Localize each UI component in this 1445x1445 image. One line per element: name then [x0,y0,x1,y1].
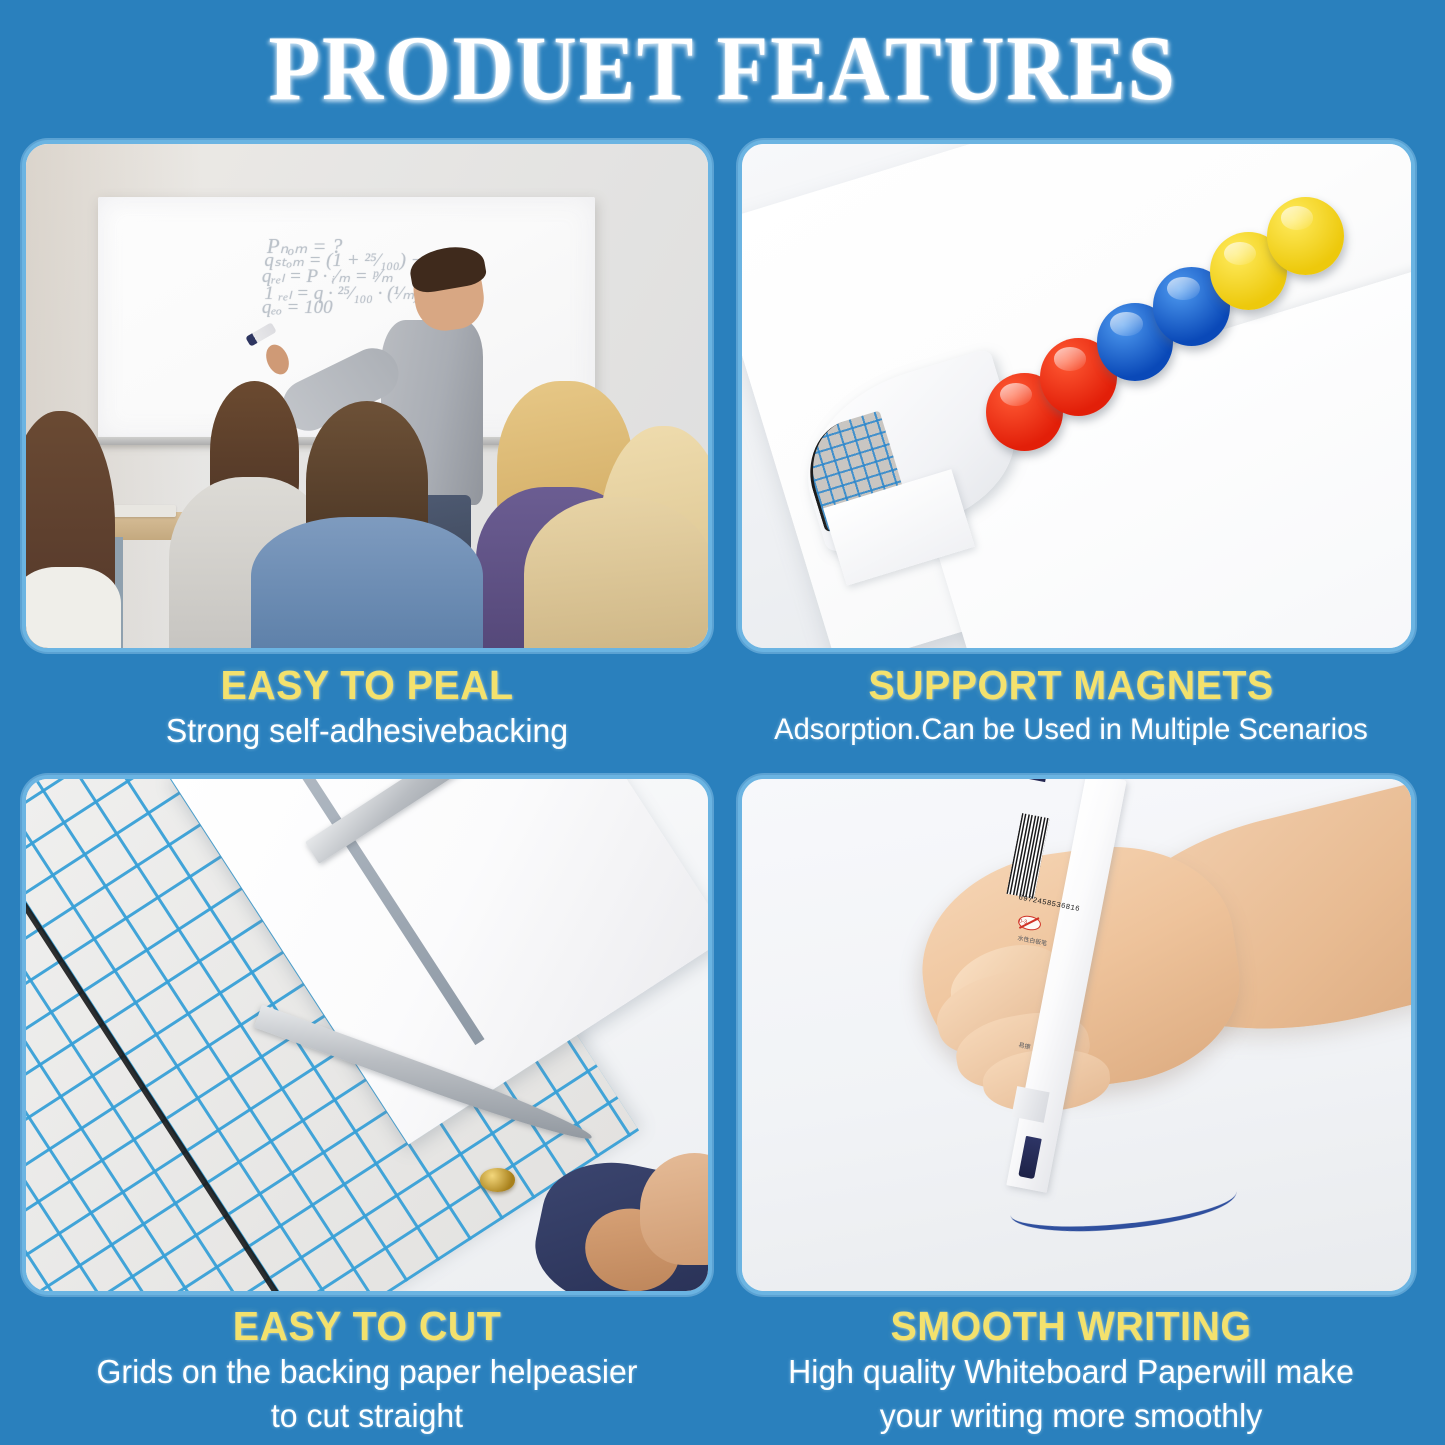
student-head [524,497,712,652]
caption-subtext: Strong self-adhesivebacking [32,712,701,751]
caption-subtext-line1: Grids on the backing paper helpeasier [32,1353,701,1392]
caption-easy-to-peal: EASY TO PEAL Strong self-adhesivebacking [22,664,712,751]
student-body [22,567,121,652]
caption-heading: SUPPORT MAGNETS [740,664,1402,707]
scissor-pivot-screw [480,1168,515,1192]
formula-line-5: qₑₒ = 100 [262,297,333,319]
student-body [251,517,483,652]
caption-easy-to-cut: EASY TO CUT Grids on the backing paper h… [22,1305,712,1436]
caption-smooth-writing: SMOOTH WRITING High quality Whiteboard P… [726,1305,1416,1436]
caption-subtext-line2: to cut straight [32,1397,701,1436]
photo-classroom: Pₙₒₘ = ? qₛₜₒₘ = (1 + ²⁵⁄₁₀₀) − (1 + i) … [22,140,712,652]
magnet-scene [742,144,1411,648]
feature-grid: Pₙₒₘ = ? qₛₜₒₘ = (1 + ²⁵⁄₁₀₀) − (1 + i) … [0,136,1445,1445]
feature-card-smooth-writing: 6972458536816 0-3 水性白板笔 易擦 [738,775,1415,1295]
page-title: PRODUET FEATURES [268,15,1176,121]
feature-card-easy-to-peal: Pₙₒₘ = ? qₛₜₒₘ = (1 + ²⁵⁄₁₀₀) − (1 + i) … [22,140,712,652]
caption-heading: SMOOTH WRITING [740,1305,1402,1348]
classroom-scene: Pₙₒₘ = ? qₛₜₒₘ = (1 + ²⁵⁄₁₀₀) − (1 + i) … [26,144,708,648]
photo-writing: 6972458536816 0-3 水性白板笔 易擦 [738,775,1415,1295]
magnet-yellow-2 [1267,197,1344,275]
writing-scene: 6972458536816 0-3 水性白板笔 易擦 [742,779,1411,1291]
marker-tip-base [1011,1086,1050,1123]
photo-scissors [22,775,712,1295]
page-header: PRODUET FEATURES [0,0,1445,136]
caption-subtext-line2: your writing more smoothly [736,1397,1405,1436]
feature-card-easy-to-cut [22,775,712,1295]
caption-heading: EASY TO CUT [36,1305,698,1348]
caption-support-magnets: SUPPORT MAGNETS Adsorption.Can be Used i… [726,664,1416,747]
photo-magnets [738,140,1415,652]
caption-subtext: Adsorption.Can be Used in Multiple Scena… [736,712,1405,747]
marker-cap [1008,775,1052,782]
caption-heading: EASY TO PEAL [36,664,698,707]
cutting-scene [26,779,708,1291]
caption-subtext-line1: High quality Whiteboard Paperwill make [736,1353,1405,1392]
feature-card-support-magnets [738,140,1415,652]
desk-book [108,505,176,517]
